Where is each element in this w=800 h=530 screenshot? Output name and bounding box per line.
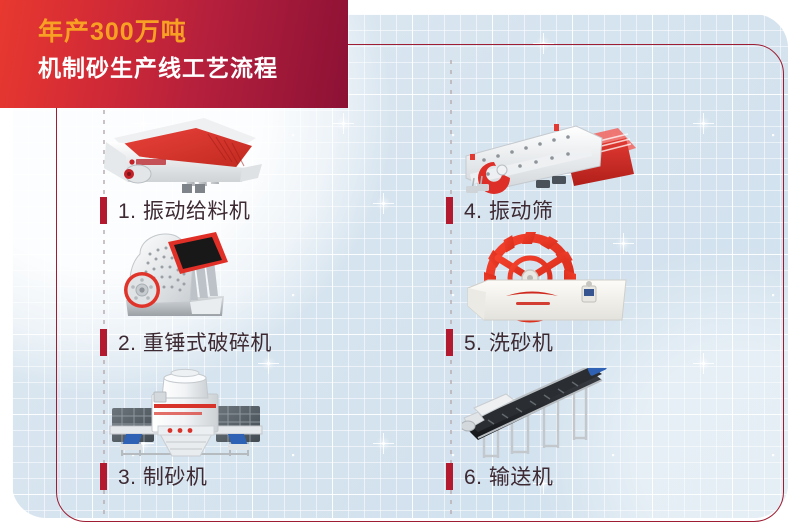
process-step-2-text: 2. 重锤式破碎机: [118, 327, 272, 357]
label-marker-bar: [100, 197, 107, 224]
process-step-2-label: 2. 重锤式破碎机: [100, 327, 272, 357]
label-marker-bar: [446, 197, 453, 224]
process-step-3-label: 3. 制砂机: [100, 461, 207, 491]
process-step-6-text: 6. 输送机: [464, 461, 553, 491]
process-step-5-label: 5. 洗砂机: [446, 327, 553, 357]
vibrating-feeder-image: [96, 112, 276, 198]
title-banner: 年产300万吨 机制砂生产线工艺流程: [0, 0, 348, 108]
label-marker-bar: [446, 463, 453, 490]
sand-making-machine-image: [96, 364, 276, 460]
label-marker-bar: [100, 463, 107, 490]
label-marker-bar: [100, 329, 107, 356]
infographic-canvas: 年产300万吨 机制砂生产线工艺流程: [0, 0, 800, 530]
vibrating-screen-image: [450, 112, 640, 200]
process-step-6-label: 6. 输送机: [446, 461, 553, 491]
process-step-4-label: 4. 振动筛: [446, 195, 553, 225]
process-step-1-text: 1. 振动给料机: [118, 195, 250, 225]
process-step-5-text: 5. 洗砂机: [464, 327, 553, 357]
label-marker-bar: [446, 329, 453, 356]
sand-washer-image: [462, 232, 638, 326]
banner-title-primary: 年产300万吨: [38, 19, 348, 47]
belt-conveyor-image: [462, 368, 638, 462]
process-step-1-label: 1. 振动给料机: [100, 195, 250, 225]
process-step-4-text: 4. 振动筛: [464, 195, 553, 225]
banner-title-secondary: 机制砂生产线工艺流程: [38, 56, 348, 81]
hammer-crusher-image: [98, 228, 278, 324]
process-step-3-text: 3. 制砂机: [118, 461, 207, 491]
